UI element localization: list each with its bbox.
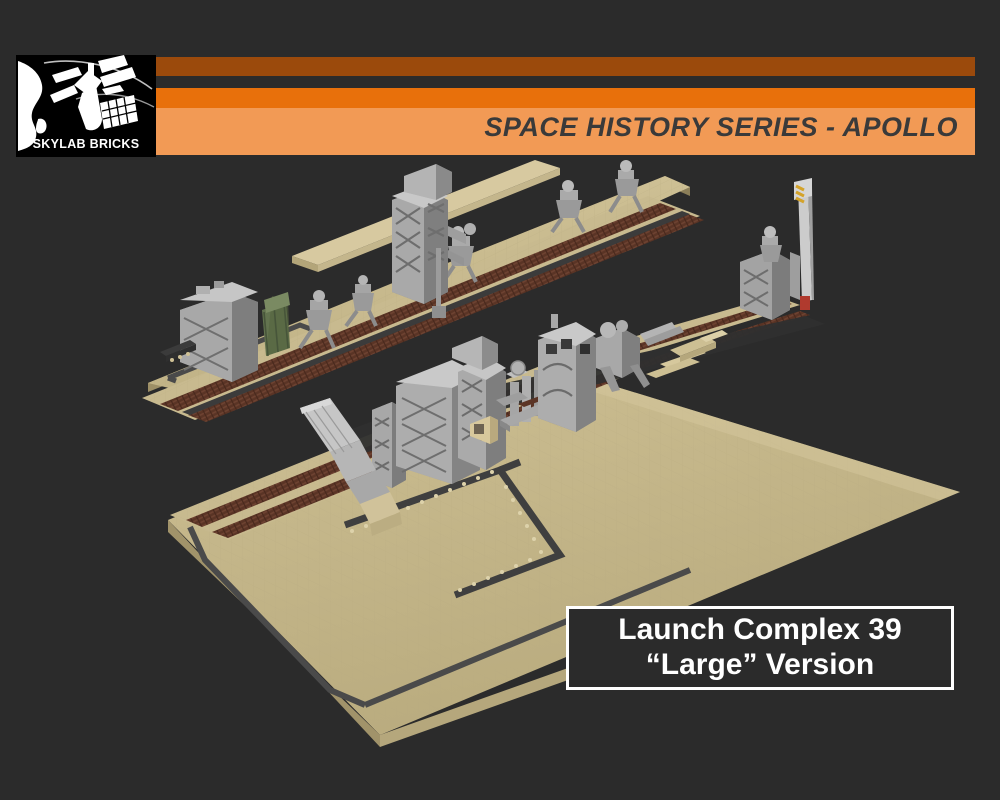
- support-structure-left-upper: [180, 281, 258, 382]
- caption-line-1: Launch Complex 39: [618, 613, 901, 648]
- skylab-bricks-logo: SKYLAB BRICKS: [16, 55, 156, 157]
- logo-brand-text: SKYLAB BRICKS: [16, 137, 156, 151]
- model-caption-box: Launch Complex 39 “Large” Version: [566, 606, 954, 690]
- water-tower-green: [262, 292, 290, 356]
- caption-line-2: “Large” Version: [646, 648, 874, 683]
- poster-canvas: SPACE HISTORY SERIES - APOLLO: [0, 0, 1000, 800]
